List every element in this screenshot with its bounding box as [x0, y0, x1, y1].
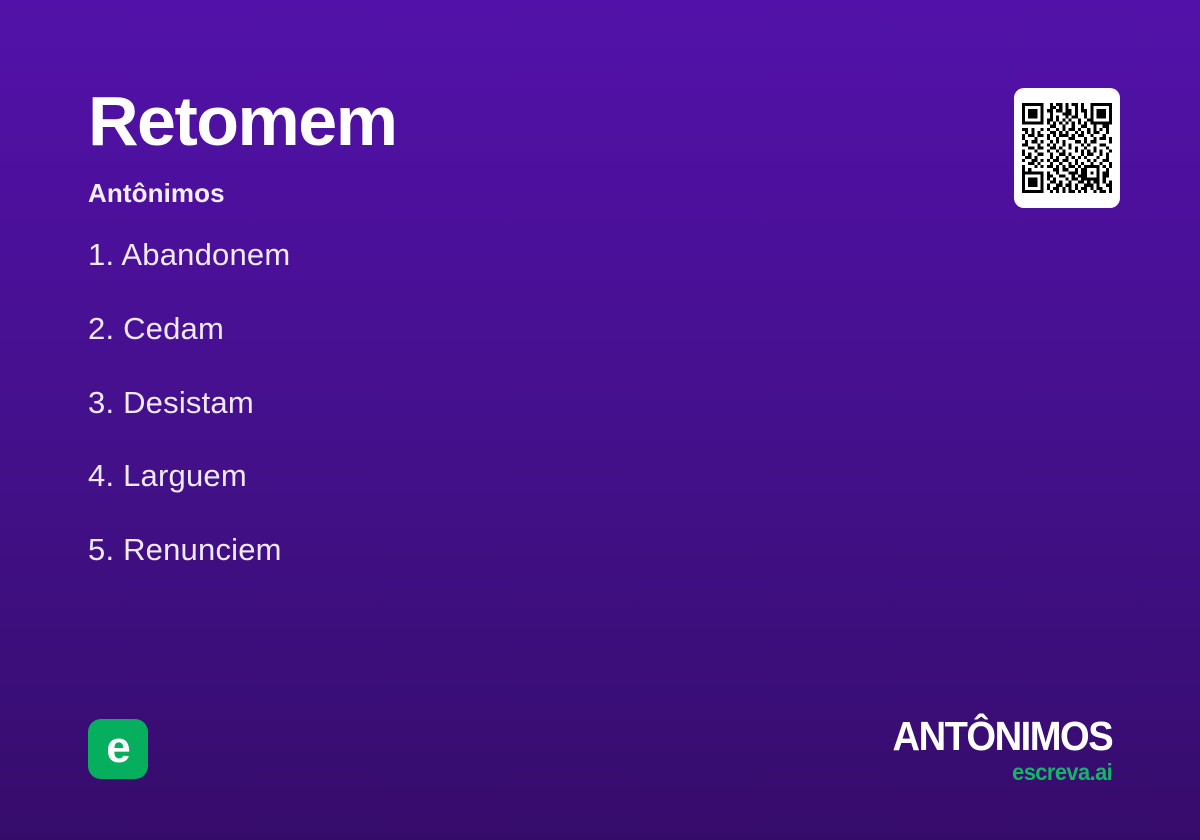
- list-item: 4. Larguem: [88, 457, 788, 496]
- page-title: Retomem: [88, 86, 868, 156]
- qr-code[interactable]: [1014, 88, 1120, 208]
- list-item: 5. Renunciem: [88, 531, 788, 570]
- antonyms-card: Retomem Antônimos: [0, 0, 1200, 840]
- list-item-index: 3.: [88, 385, 114, 420]
- list-item-word: Renunciem: [123, 532, 282, 567]
- list-item-word: Larguem: [123, 458, 247, 493]
- brand-domain: escreva.ai: [888, 761, 1112, 784]
- headline-block: Retomem Antônimos: [88, 86, 868, 209]
- brand-name: ANTÔNIMOS: [892, 716, 1112, 757]
- list-item: 3. Desistam: [88, 384, 788, 423]
- list-item-word: Desistam: [123, 385, 254, 420]
- list-item-index: 4.: [88, 458, 114, 493]
- list-item: 2. Cedam: [88, 310, 788, 349]
- list-item-index: 1.: [88, 237, 114, 272]
- list-item-index: 2.: [88, 311, 114, 346]
- antonym-list: 1. Abandonem2. Cedam3. Desistam4. Largue…: [88, 236, 788, 570]
- escreva-logo-badge[interactable]: e: [88, 719, 148, 779]
- list-item-word: Cedam: [123, 311, 224, 346]
- page-subtitle: Antônimos: [88, 178, 868, 209]
- list-item-index: 5.: [88, 532, 114, 567]
- list-item-word: Abandonem: [121, 237, 290, 272]
- qr-code-icon: [1022, 97, 1112, 199]
- badge-letter: e: [106, 726, 129, 770]
- brand-lockup: ANTÔNIMOS escreva.ai: [876, 716, 1112, 784]
- list-item: 1. Abandonem: [88, 236, 788, 275]
